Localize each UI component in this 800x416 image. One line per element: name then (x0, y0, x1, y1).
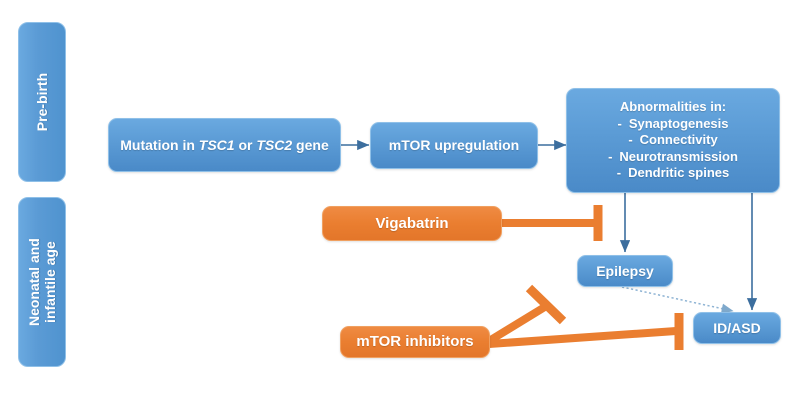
mutation-suffix: gene (292, 137, 329, 153)
bullet-dash-3: - (608, 149, 612, 166)
abnormalities-title: Abnormalities in: (620, 99, 726, 116)
timeline-bar-neonatal-infantile-age: Neonatal and infantile age (18, 197, 66, 367)
bullet-dash-1: - (617, 116, 621, 133)
abnormalities-item-connectivity: -Connectivity (628, 132, 717, 149)
node-vigabatrin-label: Vigabatrin (375, 215, 448, 233)
timeline-label-line1: Neonatal and (26, 238, 42, 326)
abnormalities-item-label: Connectivity (640, 132, 718, 147)
abnormalities-item-dendritic-spines: -Dendritic spines (617, 165, 729, 182)
node-mtor-inhibitors-label: mTOR inhibitors (356, 333, 473, 351)
node-mtor-upregulation-label: mTOR upregulation (389, 137, 519, 154)
timeline-label-neonatal-infantile-age: Neonatal and infantile age (26, 238, 58, 326)
abnormalities-item-label: Neurotransmission (619, 149, 737, 164)
timeline-label-pre-birth: Pre-birth (34, 73, 50, 131)
connector-epilepsy-to-id-asd (622, 287, 733, 311)
node-mutation-label: Mutation in TSC1 or TSC2 gene (120, 137, 329, 154)
node-epilepsy[interactable]: Epilepsy (577, 255, 673, 287)
bullet-dash-4: - (617, 165, 621, 182)
node-mtor-upregulation[interactable]: mTOR upregulation (370, 122, 538, 169)
node-mtor-inhibitors[interactable]: mTOR inhibitors (340, 326, 490, 358)
diagram-canvas: Pre-birth Neonatal and infantile age Mut… (0, 0, 800, 416)
mutation-prefix: Mutation in (120, 137, 199, 153)
abnormalities-item-label: Synaptogenesis (629, 116, 729, 131)
node-mutation-tsc[interactable]: Mutation in TSC1 or TSC2 gene (108, 118, 341, 172)
gene-tsc1: TSC1 (199, 137, 235, 153)
connector-mtor-inhibitors-inhibits-id-asd (489, 313, 679, 350)
connector-vigabatrin-inhibits-abnormalities (500, 205, 598, 241)
bullet-dash-2: - (628, 132, 632, 149)
node-epilepsy-label: Epilepsy (596, 263, 654, 280)
node-id-asd-label: ID/ASD (713, 320, 760, 337)
abnormalities-item-synaptogenesis: -Synaptogenesis (617, 116, 728, 133)
connector-mtor-inhibitors-inhibits-epilepsy (489, 288, 563, 341)
mutation-conjunction: or (235, 137, 257, 153)
node-vigabatrin[interactable]: Vigabatrin (322, 206, 502, 241)
timeline-bar-pre-birth: Pre-birth (18, 22, 66, 182)
abnormalities-item-neurotransmission: -Neurotransmission (608, 149, 738, 166)
abnormalities-item-label: Dendritic spines (628, 165, 729, 180)
node-abnormalities[interactable]: Abnormalities in: -Synaptogenesis -Conne… (566, 88, 780, 193)
node-id-asd[interactable]: ID/ASD (693, 312, 781, 344)
gene-tsc2: TSC2 (256, 137, 292, 153)
timeline-label-line2: infantile age (42, 241, 58, 323)
